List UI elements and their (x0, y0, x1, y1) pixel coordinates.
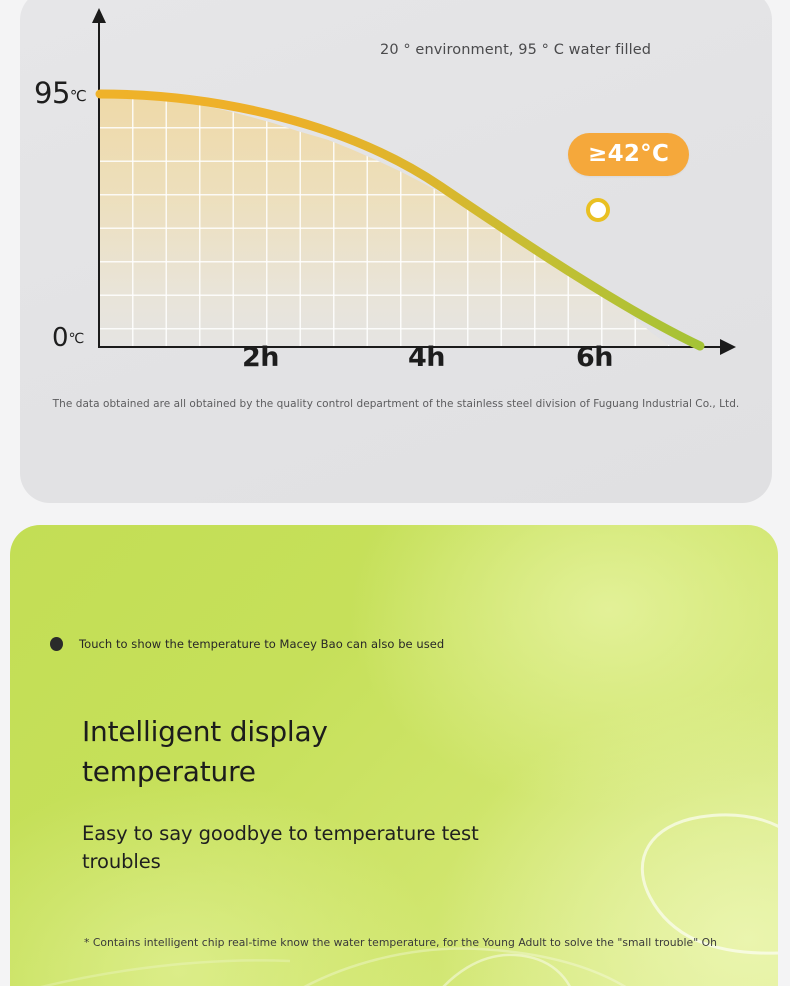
feature-subheadline: Easy to say goodbye to temperature test … (82, 820, 552, 877)
y-axis-top-label: 95℃ (34, 76, 86, 110)
feature-bullet-text: Touch to show the temperature to Macey B… (79, 637, 444, 651)
x-tick-label-6h: 6h (576, 342, 613, 373)
x-tick-label-2h: 2h (242, 342, 279, 373)
insulation-chart-card: 95℃ 0℃ 2h 4h 6h 20 ° environment, 95 ° C… (20, 0, 772, 503)
x-tick-label-4h: 4h (408, 342, 445, 373)
x-axis-arrow-icon (720, 339, 736, 355)
chart-condition-annotation: 20 ° environment, 95 ° C water filled (380, 42, 651, 58)
chart-plot-container: 95℃ 0℃ 2h 4h 6h 20 ° environment, 95 ° C… (20, 0, 772, 503)
y-axis-bottom-label: 0℃ (52, 323, 84, 353)
bullet-dot-icon (50, 637, 63, 651)
page-root: 95℃ 0℃ 2h 4h 6h 20 ° environment, 95 ° C… (0, 0, 790, 986)
temperature-threshold-badge: ≥42°C (568, 133, 689, 176)
feature-headline: Intelligent display temperature (82, 712, 502, 792)
data-point-marker (586, 198, 610, 222)
feature-footnote: * Contains intelligent chip real-time kn… (84, 936, 724, 949)
chart-source-caption: The data obtained are all obtained by th… (20, 398, 772, 410)
feature-bullet-row: Touch to show the temperature to Macey B… (50, 637, 444, 651)
